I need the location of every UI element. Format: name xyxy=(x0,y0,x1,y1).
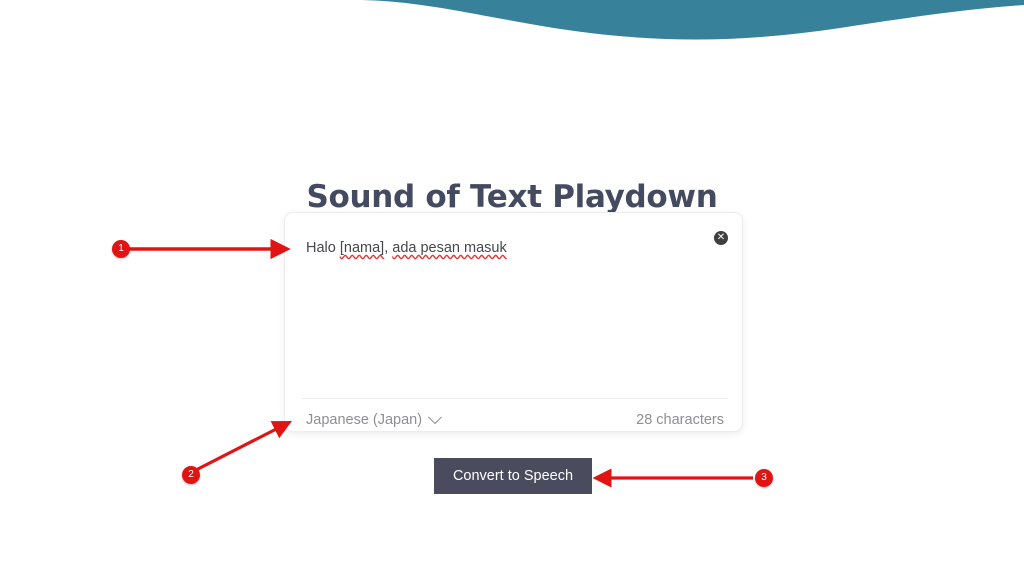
text-segment-misspelled: [nama] xyxy=(340,240,384,256)
close-circle-icon[interactable]: ✕ xyxy=(714,231,728,245)
text-segment: Halo xyxy=(306,240,340,256)
textarea-value[interactable]: Halo [nama], ada pesan masuk xyxy=(306,240,507,256)
text-segment-misspelled: ada pesan masuk xyxy=(392,240,506,256)
language-dropdown[interactable]: Japanese (Japan) xyxy=(306,412,440,428)
chevron-down-icon xyxy=(428,410,442,424)
page-container: Sound of Text Playdown Halo [nama], ada … xyxy=(0,0,1024,576)
page-title: Sound of Text Playdown xyxy=(0,179,1024,215)
text-to-speech-card: Halo [nama], ada pesan masuk ✕ Japanese … xyxy=(284,212,743,432)
text-input-area[interactable]: Halo [nama], ada pesan masuk ✕ xyxy=(285,213,742,392)
character-count: 28 characters xyxy=(636,412,724,428)
convert-to-speech-button[interactable]: Convert to Speech xyxy=(434,458,592,494)
card-divider xyxy=(301,398,728,399)
language-dropdown-label: Japanese (Japan) xyxy=(306,412,422,428)
card-footer: Japanese (Japan) 28 characters xyxy=(285,408,742,442)
